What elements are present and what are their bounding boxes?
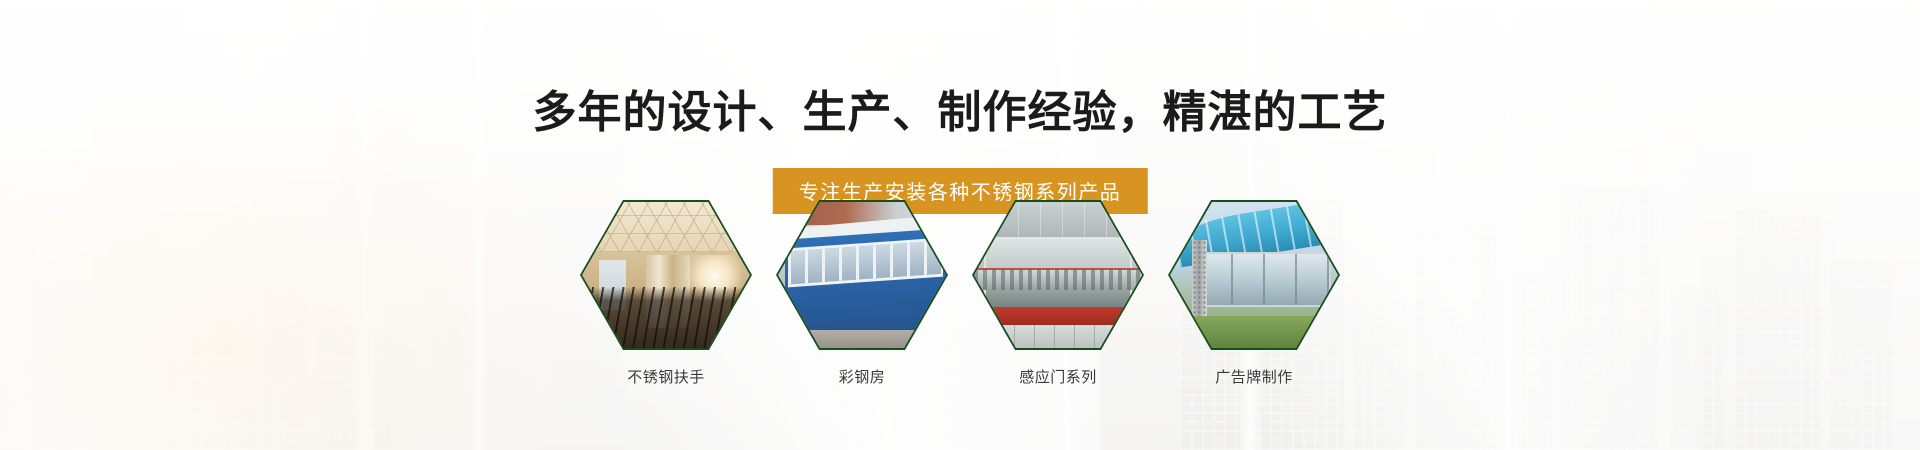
product-item-handrail[interactable]: 不锈钢扶手	[580, 200, 752, 387]
hexagon-image-clip	[974, 202, 1142, 348]
product-label: 广告牌制作	[1168, 366, 1340, 387]
hexagon-image-clip	[582, 202, 750, 348]
color-steel-house-photo	[778, 202, 946, 348]
hexagon-frame	[580, 200, 752, 350]
hexagon-frame	[776, 200, 948, 350]
stainless-steel-handrail-photo	[582, 202, 750, 348]
promo-banner: 多年的设计、生产、制作经验，精湛的工艺 专注生产安装各种不锈钢系列产品 不锈钢扶…	[0, 0, 1920, 450]
hexagon-frame	[1168, 200, 1340, 350]
product-label: 不锈钢扶手	[580, 366, 752, 387]
hexagon-image-clip	[778, 202, 946, 348]
product-item-billboard[interactable]: 广告牌制作	[1168, 200, 1340, 387]
banner-headline: 多年的设计、生产、制作经验，精湛的工艺	[0, 76, 1920, 140]
hexagon-image-clip	[1170, 202, 1338, 348]
product-label: 感应门系列	[972, 366, 1144, 387]
product-label: 彩钢房	[776, 366, 948, 387]
product-hexagon-row: 不锈钢扶手 彩钢房	[580, 200, 1340, 420]
product-item-color-steel-house[interactable]: 彩钢房	[776, 200, 948, 387]
product-item-sensor-door[interactable]: 感应门系列	[972, 200, 1144, 387]
hexagon-frame	[972, 200, 1144, 350]
sensor-door-series-photo	[974, 202, 1142, 348]
banner-content: 多年的设计、生产、制作经验，精湛的工艺 专注生产安装各种不锈钢系列产品 不锈钢扶…	[0, 0, 1920, 450]
billboard-fabrication-photo	[1170, 202, 1338, 348]
